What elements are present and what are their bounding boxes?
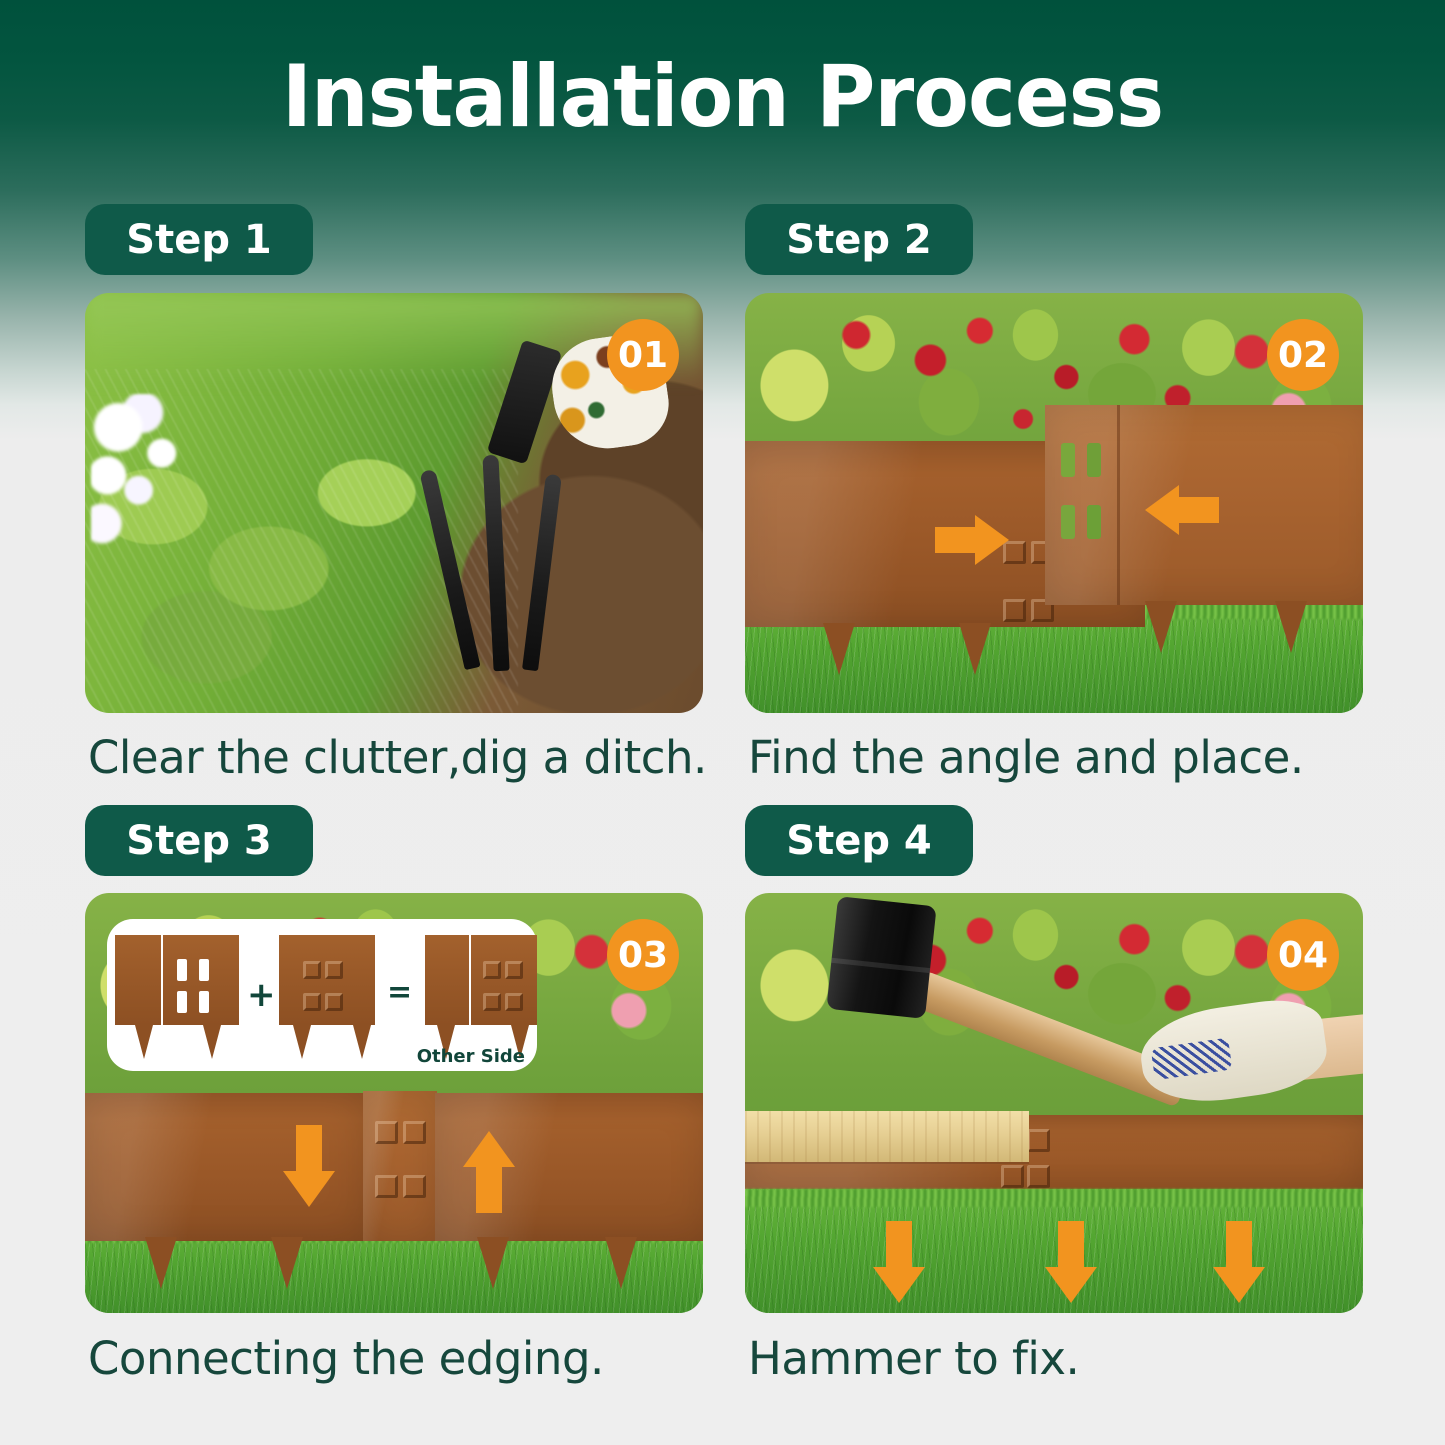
- panel-spike: [477, 1237, 509, 1289]
- step-number-badge-3: 03: [607, 919, 679, 991]
- diagram-spike: [353, 1025, 371, 1059]
- cultivator-tine: [419, 469, 480, 670]
- panel-spike: [605, 1237, 637, 1289]
- step-badge-3-label: Step 3: [126, 818, 271, 864]
- step-4-caption: Hammer to fix.: [748, 1332, 1079, 1385]
- panel-spike: [1275, 601, 1307, 653]
- step-4-photo: 04: [745, 893, 1363, 1313]
- diagram-spike: [135, 1025, 153, 1059]
- step-number-2: 02: [1278, 335, 1328, 376]
- step-badge-2: Step 2: [745, 204, 973, 275]
- interlock-bracket: [375, 1175, 398, 1198]
- step-1-photo: 01: [85, 293, 703, 713]
- step-badge-1-label: Step 1: [126, 217, 271, 263]
- plus-symbol: +: [247, 975, 276, 1015]
- panel-spike: [959, 623, 991, 675]
- step-number-badge-1: 01: [607, 319, 679, 391]
- panel-slot: [1087, 443, 1101, 477]
- panel-slot: [1061, 505, 1075, 539]
- step-3-caption: Connecting the edging.: [88, 1332, 604, 1385]
- diagram-panel-b: [279, 935, 375, 1025]
- arrow-left-icon: [1143, 485, 1219, 535]
- interlock-bracket: [483, 993, 501, 1011]
- diagram-slot: [177, 991, 187, 1013]
- step-badge-2-label: Step 2: [786, 217, 931, 263]
- diagram-panel-a-left-half: [115, 935, 161, 1025]
- panel-slot: [1061, 443, 1075, 477]
- cultivator-tine: [482, 455, 509, 672]
- interlock-bracket: [325, 993, 343, 1011]
- panel-spike: [1145, 601, 1177, 653]
- interlock-bracket: [303, 993, 321, 1011]
- infographic-page: Installation Process Step 1 01 Clear the…: [0, 0, 1445, 1445]
- step-badge-3: Step 3: [85, 805, 313, 876]
- panel-sheen: [363, 1091, 437, 1241]
- interlock-bracket: [1027, 1165, 1050, 1188]
- diagram-slot: [199, 959, 209, 981]
- step-3-photo: + = Other Side 03: [85, 893, 703, 1313]
- step-number-3: 03: [618, 935, 668, 976]
- panel-slot: [1087, 505, 1101, 539]
- interlock-bracket: [505, 993, 523, 1011]
- cultivator-tine: [522, 474, 562, 671]
- arrow-down-icon: [873, 1221, 925, 1303]
- interlock-bracket: [1003, 599, 1026, 622]
- interlock-bracket: [303, 961, 321, 979]
- diagram-slot: [199, 991, 209, 1013]
- step-1-caption: Clear the clutter,dig a ditch.: [88, 731, 707, 784]
- step-2-caption: Find the angle and place.: [748, 731, 1304, 784]
- step-2-photo: 02: [745, 293, 1363, 713]
- panel-seam: [1117, 405, 1120, 605]
- interlock-bracket: [325, 961, 343, 979]
- step-badge-4-label: Step 4: [786, 818, 931, 864]
- wooden-tamping-board: [745, 1111, 1029, 1161]
- page-title: Installation Process: [43, 52, 1401, 142]
- equals-symbol: =: [387, 975, 412, 1010]
- step-number-4: 04: [1278, 935, 1328, 976]
- interlock-bracket: [483, 961, 501, 979]
- arrow-up-icon: [463, 1131, 515, 1213]
- diagram-panel-c-right: [471, 935, 537, 1025]
- panel-spike: [145, 1237, 177, 1289]
- interlock-bracket: [375, 1121, 398, 1144]
- panel-spike: [271, 1237, 303, 1289]
- interlock-bracket: [1027, 1129, 1050, 1152]
- step-badge-4: Step 4: [745, 805, 973, 876]
- rubber-mallet-head: [826, 897, 936, 1020]
- hand-cultivator-tool: [406, 343, 678, 671]
- diagram-spike: [293, 1025, 311, 1059]
- step-number-1: 01: [618, 335, 668, 376]
- edging-panel-connector: [363, 1091, 437, 1241]
- interlock-bracket: [1001, 1165, 1024, 1188]
- white-flowers: [91, 394, 227, 579]
- step-badge-1: Step 1: [85, 204, 313, 275]
- interlock-bracket: [403, 1175, 426, 1198]
- diagram-slot: [177, 959, 187, 981]
- arrow-down-icon: [1213, 1221, 1265, 1303]
- arrow-right-icon: [935, 515, 1011, 565]
- step-number-badge-4: 04: [1267, 919, 1339, 991]
- arrow-down-icon: [283, 1125, 335, 1207]
- arrow-down-icon: [1045, 1221, 1097, 1303]
- panel-spike: [823, 623, 855, 675]
- other-side-label: Other Side: [417, 1046, 525, 1067]
- interlock-bracket: [505, 961, 523, 979]
- assembly-diagram-callout: + = Other Side: [107, 919, 537, 1071]
- diagram-panel-c-left: [425, 935, 469, 1025]
- cultivator-handle: [487, 340, 562, 465]
- step-number-badge-2: 02: [1267, 319, 1339, 391]
- interlock-bracket: [403, 1121, 426, 1144]
- diagram-spike: [203, 1025, 221, 1059]
